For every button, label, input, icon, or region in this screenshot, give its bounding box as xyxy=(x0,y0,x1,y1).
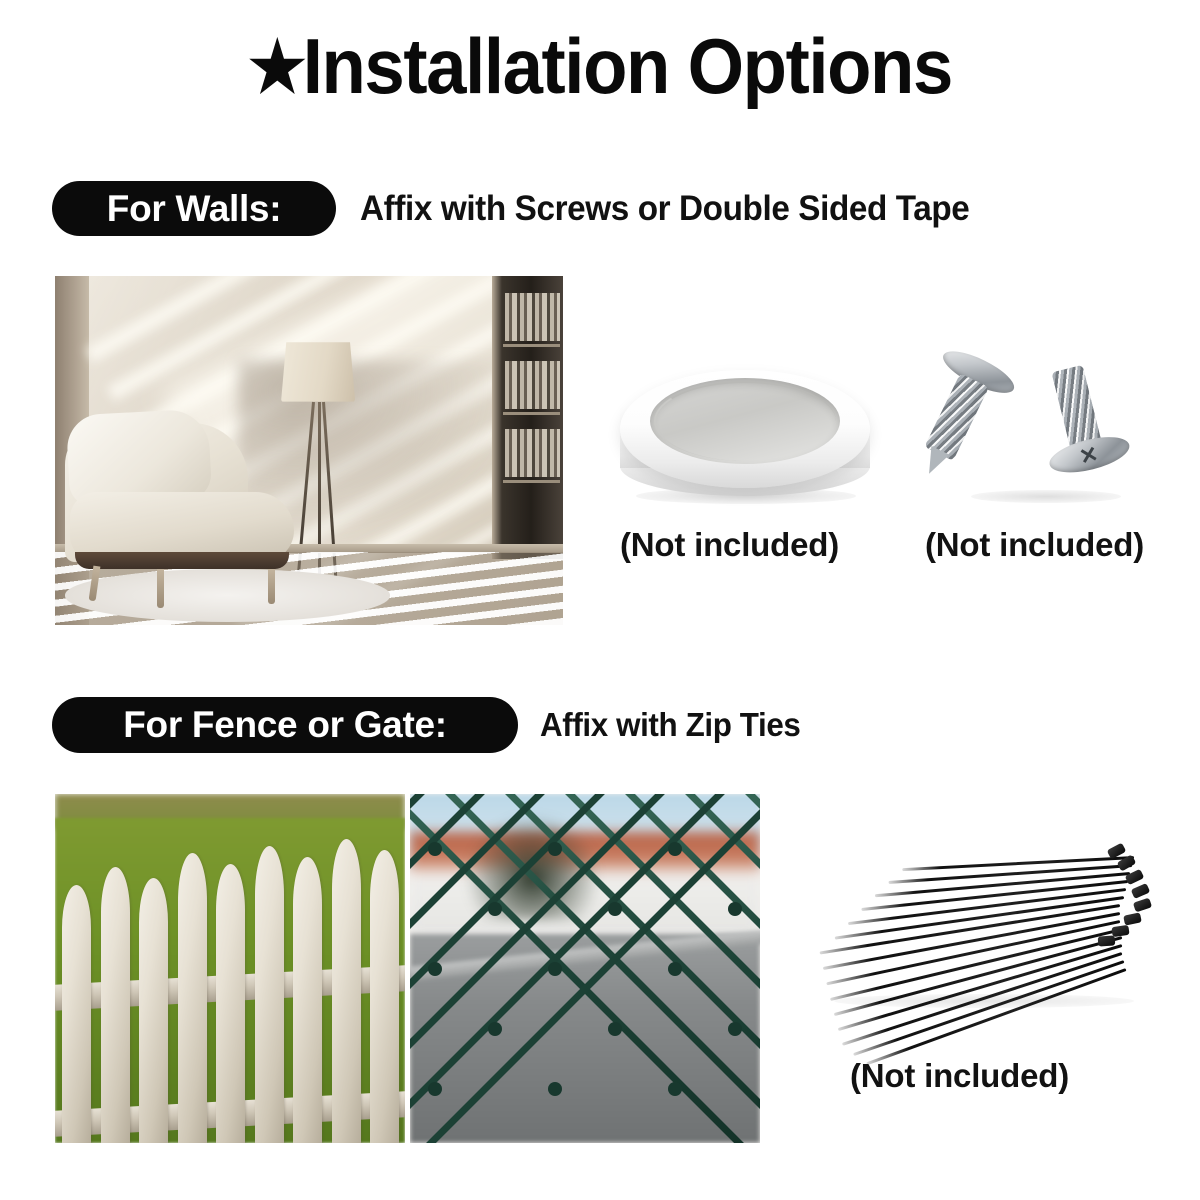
fence-picket xyxy=(139,878,168,1143)
zip-ties xyxy=(812,832,1172,1012)
badge-for-walls-label: For Walls: xyxy=(107,188,281,230)
zip-tie-head xyxy=(1131,883,1151,899)
tape-core-rim xyxy=(654,381,836,461)
badge-for-fence-or-gate-label: For Fence or Gate: xyxy=(123,704,447,746)
caption-walls: Affix with Screws or Double Sided Tape xyxy=(360,189,969,229)
fence-picket xyxy=(178,853,207,1143)
fence-picket xyxy=(370,850,399,1143)
section-header-fence-or-gate: For Fence or Gate: Affix with Zip Ties xyxy=(52,697,814,753)
star-icon: ★ xyxy=(248,28,303,106)
section-header-walls: For Walls: Affix with Screws or Double S… xyxy=(52,181,1001,236)
picket-fence-photo xyxy=(55,794,405,1143)
fence-picket xyxy=(255,846,284,1143)
armchair-leg xyxy=(157,569,164,607)
zip-tie-head xyxy=(1111,925,1129,937)
badge-for-fence-or-gate: For Fence or Gate: xyxy=(52,697,518,753)
fence-picket xyxy=(101,867,130,1143)
page-title-text: Installation Options xyxy=(303,22,952,110)
living-room-photo xyxy=(55,276,563,625)
page-title: ★Installation Options xyxy=(42,26,1158,107)
infographic-page: ★Installation Options For Walls: Affix w… xyxy=(0,0,1200,1200)
fence-picket xyxy=(332,839,361,1143)
fence-picket xyxy=(216,864,245,1143)
bookshelf xyxy=(492,276,563,559)
armchair-leg xyxy=(268,569,275,604)
chain-link-fence-photo xyxy=(410,794,760,1143)
screws-not-included-caption: (Not included) xyxy=(925,526,1144,564)
floor-lamp-shade xyxy=(281,342,355,401)
zip-tie-head xyxy=(1098,935,1116,946)
caption-fence-or-gate: Affix with Zip Ties xyxy=(540,706,800,744)
badge-for-walls: For Walls: xyxy=(52,181,336,236)
zip-tie-head xyxy=(1133,898,1152,913)
zip-ties-not-included-caption: (Not included) xyxy=(850,1057,1069,1095)
zip-tie-head xyxy=(1123,912,1142,925)
screws: ✕ xyxy=(935,355,1150,505)
fence-picket xyxy=(62,885,91,1143)
tape-not-included-caption: (Not included) xyxy=(620,526,839,564)
round-rug xyxy=(65,569,390,621)
armchair-base xyxy=(75,552,288,569)
chain-link-mesh-icon xyxy=(410,794,760,1143)
screws-shadow xyxy=(971,490,1121,503)
fence-picket xyxy=(293,857,322,1143)
double-sided-tape-roll xyxy=(620,358,870,503)
